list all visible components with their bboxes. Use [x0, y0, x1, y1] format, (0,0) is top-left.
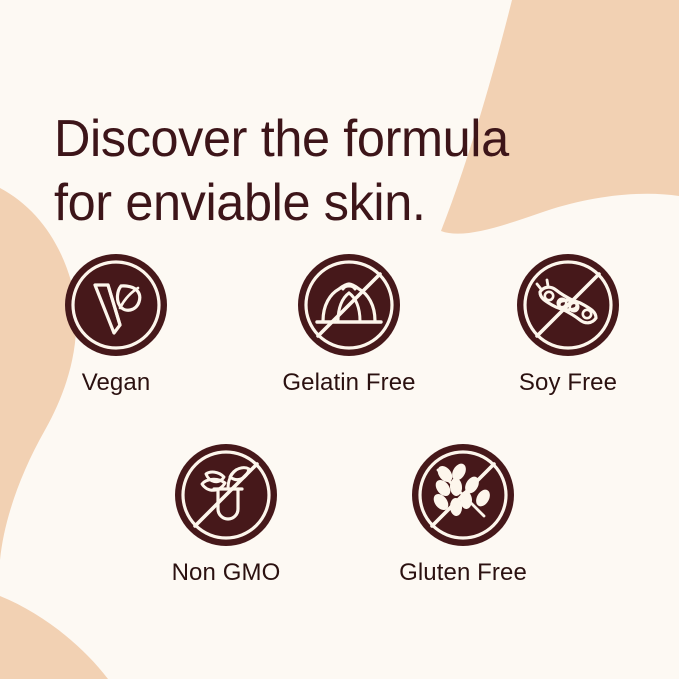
badge-soy-free[interactable]: Soy Free	[493, 253, 643, 397]
soybean-pod-no-icon	[516, 253, 620, 357]
wheat-stalk-no-icon	[411, 443, 515, 547]
badge-gelatin-free[interactable]: Gelatin Free	[274, 253, 424, 397]
vegan-leaf-v-icon	[64, 253, 168, 357]
badge-gluten-free[interactable]: Gluten Free	[388, 443, 538, 587]
badge-non-gmo[interactable]: Non GMO	[151, 443, 301, 587]
promo-graphic: Discover the formula for enviable skin. …	[0, 0, 679, 679]
badge-label: Non GMO	[151, 559, 301, 587]
page-title: Discover the formula for enviable skin.	[54, 107, 597, 235]
badge-label: Soy Free	[493, 369, 643, 397]
badge-label: Gelatin Free	[274, 369, 424, 397]
badge-label: Vegan	[41, 369, 191, 397]
badge-vegan[interactable]: Vegan	[41, 253, 191, 397]
test-tube-sprout-no-icon	[174, 443, 278, 547]
badge-label: Gluten Free	[388, 559, 538, 587]
gelatin-mold-no-icon	[297, 253, 401, 357]
